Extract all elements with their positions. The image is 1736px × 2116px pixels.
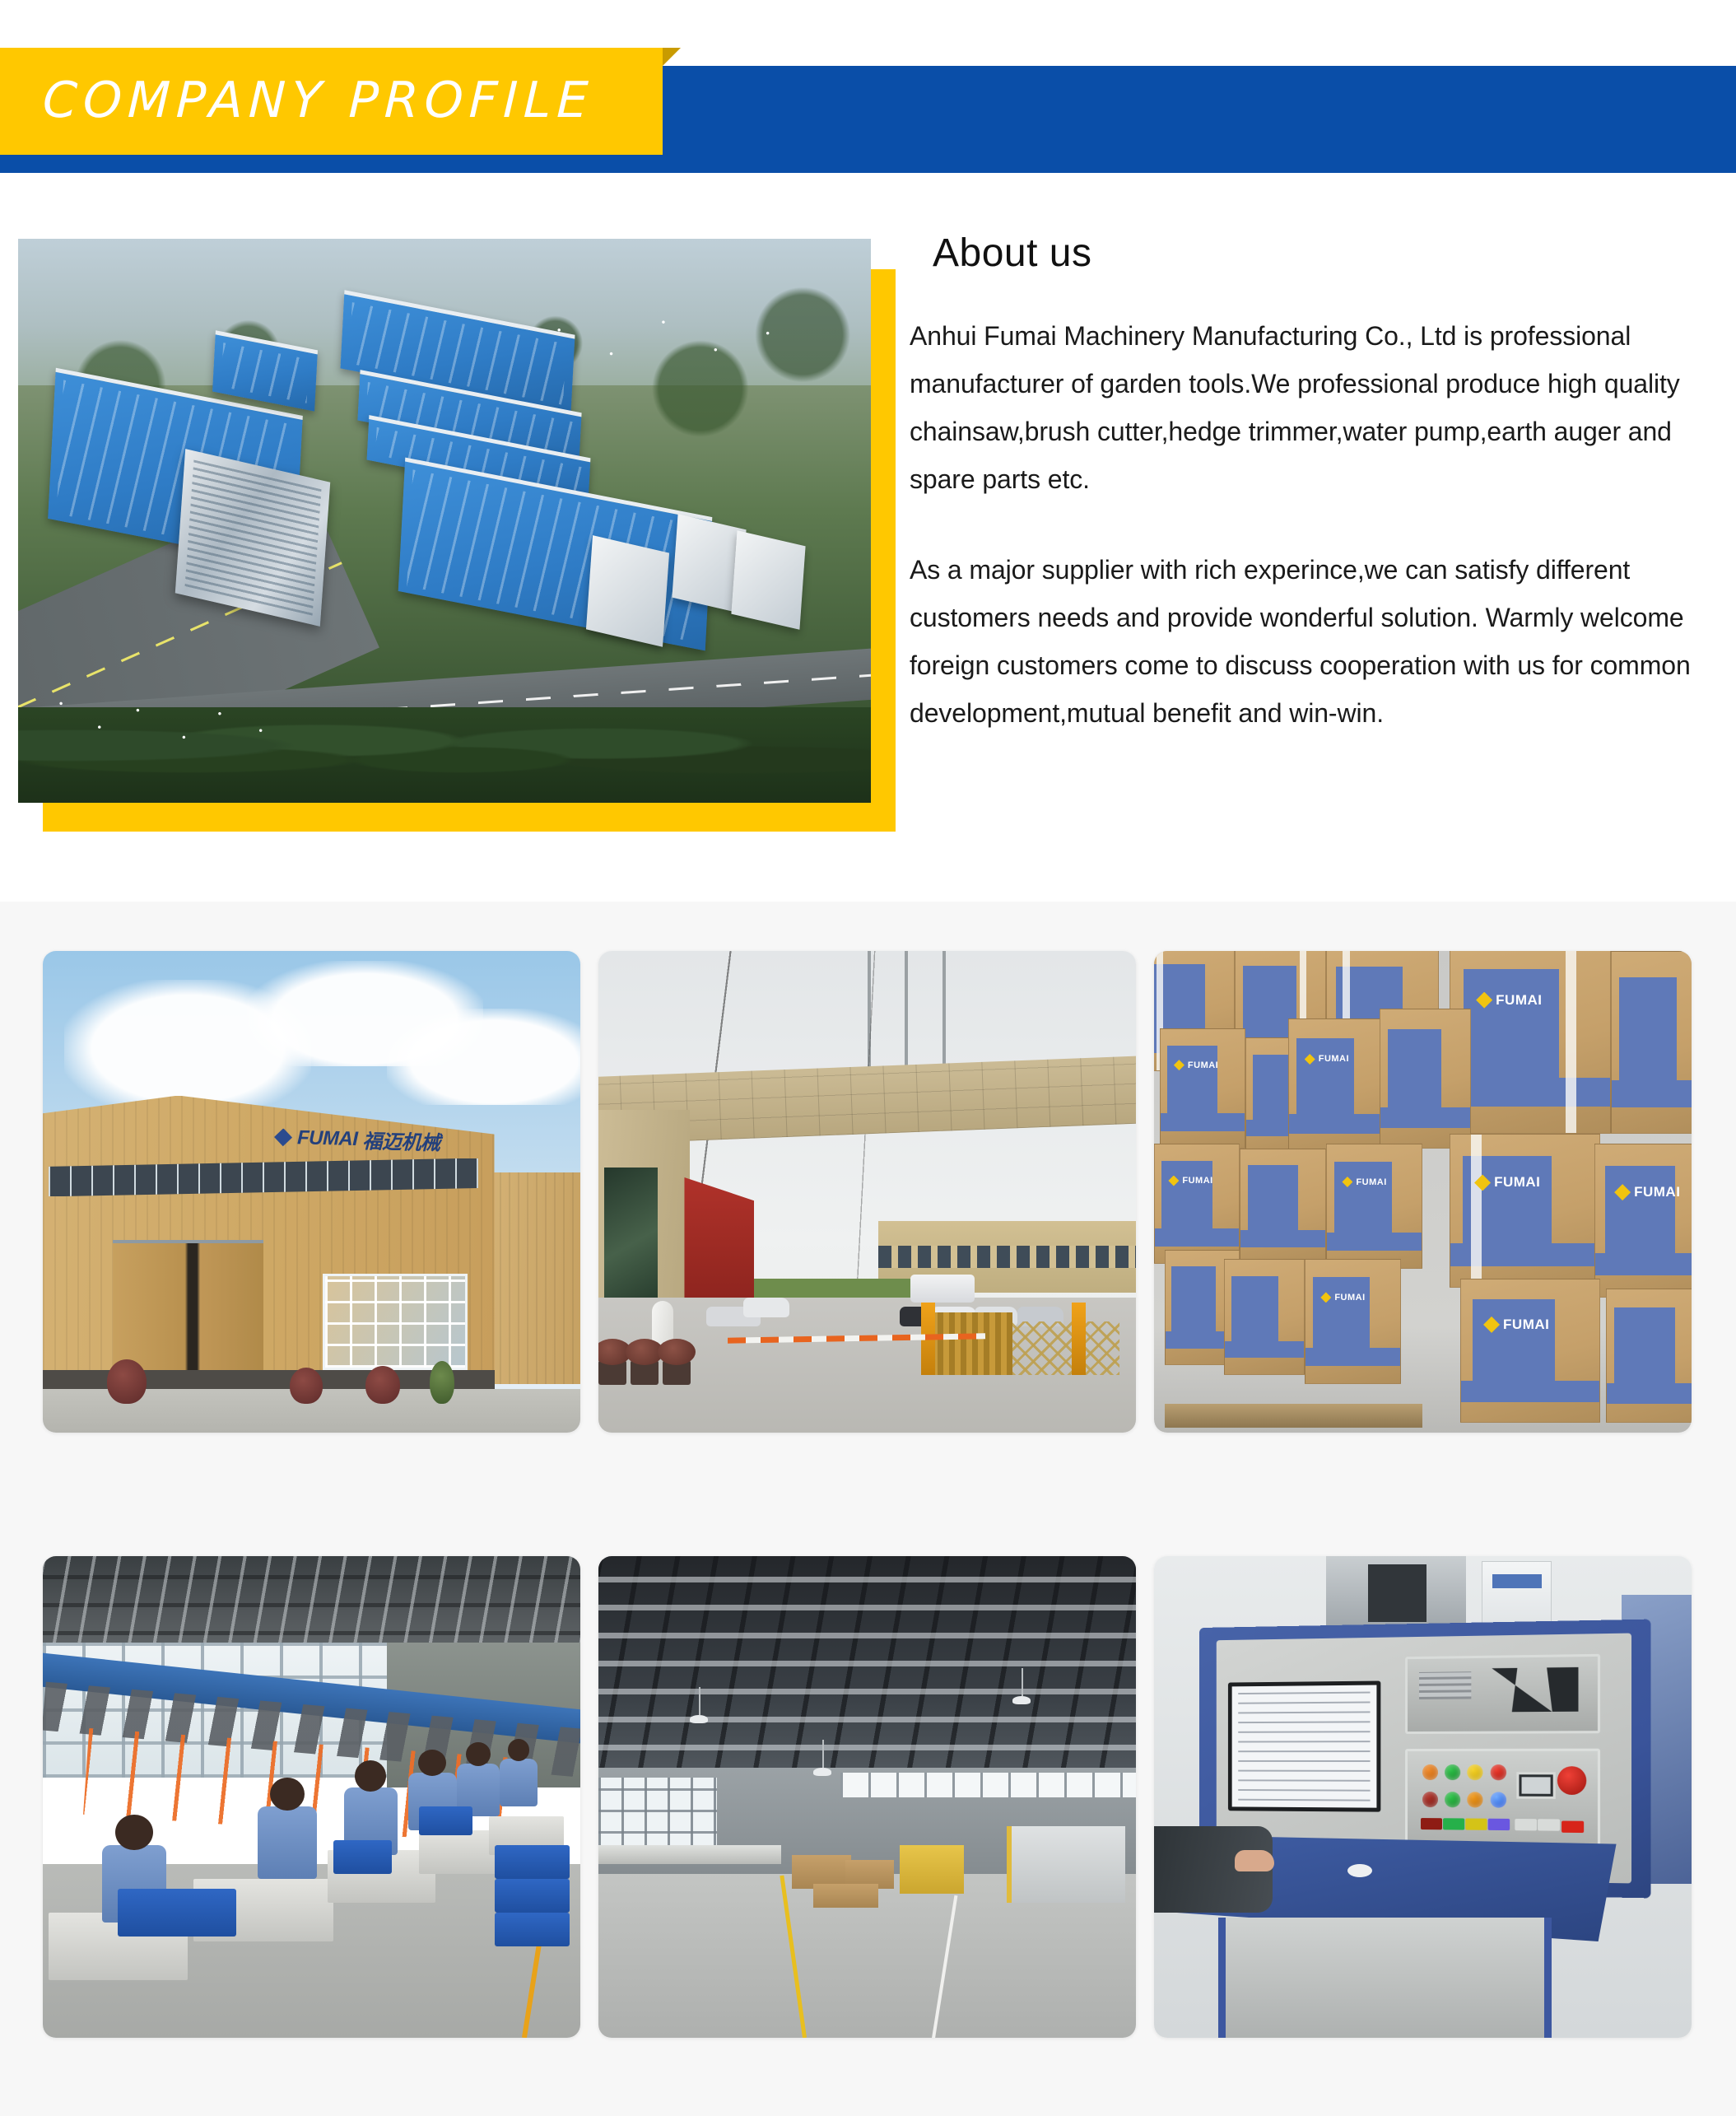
aerial-birds-icon	[35, 690, 291, 757]
assembly-worker	[500, 1759, 538, 1807]
factory-window	[323, 1274, 468, 1370]
vent-grille-icon	[1418, 1671, 1471, 1699]
header-corner-fold-icon	[663, 48, 681, 66]
aerial-birds-icon	[530, 306, 820, 385]
carton-blue-panel	[1231, 1276, 1279, 1342]
about-section: About us Anhui Fumai Machinery Manufactu…	[0, 173, 1736, 897]
factory-aerial-photo	[18, 239, 871, 803]
carton-blue-panel	[1161, 1161, 1212, 1230]
fumai-carton-mark: FUMAI	[1474, 1174, 1540, 1191]
planter-pot	[598, 1360, 626, 1385]
hero-photo-wrapper	[18, 239, 896, 832]
carton-blue-panel	[1388, 1029, 1441, 1109]
carton-brand-text: FUMAI	[1334, 1293, 1365, 1303]
carton-blue-band	[1327, 1233, 1422, 1251]
fumai-logo-icon	[1320, 1292, 1331, 1303]
planter-pot	[631, 1360, 659, 1385]
carton-blue-band	[1380, 1107, 1470, 1128]
carton-blue-band	[1225, 1341, 1304, 1359]
blue-parts-bin	[419, 1806, 472, 1835]
carton-blue-band	[1607, 1383, 1692, 1403]
toggle-switch[interactable]	[1465, 1818, 1487, 1829]
carton-strap	[1566, 951, 1577, 1133]
indicator-light[interactable]	[1490, 1792, 1506, 1808]
button-control-bar	[1405, 1749, 1600, 1848]
indicator-light[interactable]	[1422, 1764, 1438, 1780]
parked-bus	[910, 1275, 975, 1303]
monitor-screen	[1231, 1685, 1376, 1807]
stacked-goods	[813, 1884, 877, 1908]
office-booth	[1007, 1826, 1125, 1904]
carton-blue-panel	[1619, 977, 1676, 1083]
gallery-photo-cnc-control-console[interactable]	[1154, 1556, 1692, 2038]
carton-blue-panel	[1605, 1166, 1675, 1254]
gallery-photo-factory-building-exterior[interactable]: FUMAI 福迈机械	[43, 951, 580, 1433]
about-paragraph-1: Anhui Fumai Machinery Manufacturing Co.,…	[910, 312, 1720, 503]
retractable-gate	[932, 1312, 1012, 1375]
about-heading: About us	[933, 231, 1720, 276]
gallery-row: FUMAI 福迈机械	[43, 951, 1693, 1433]
parked-car	[743, 1298, 789, 1317]
gallery-row	[43, 1556, 1693, 2038]
shipping-carton: FUMAI	[1450, 951, 1611, 1134]
carton-blue-band	[1461, 1381, 1599, 1402]
fumai-logo-icon	[1174, 1060, 1184, 1070]
emergency-stop-button[interactable]	[1557, 1766, 1585, 1795]
shipping-carton: FUMAI	[1160, 1028, 1245, 1149]
toggle-switch[interactable]	[1538, 1819, 1560, 1831]
fumai-carton-mark: FUMAI	[1174, 1060, 1218, 1070]
page-title: COMPANY PROFILE	[41, 59, 653, 142]
gallery-photo-workshop-interior[interactable]	[598, 1556, 1136, 2038]
indicator-light[interactable]	[1467, 1764, 1482, 1780]
carton-blue-band	[1305, 1348, 1401, 1367]
fumai-carton-mark: FUMAI	[1483, 1317, 1549, 1333]
shipping-carton	[1606, 1289, 1692, 1424]
barrier-post	[1072, 1303, 1086, 1375]
shipping-carton: FUMAI	[1450, 1134, 1600, 1288]
fumai-logo-icon	[1614, 1184, 1631, 1200]
carton-blue-panel	[1334, 1162, 1391, 1233]
planter-pot	[663, 1360, 691, 1385]
fumai-sign-brand: FUMAI	[296, 1126, 357, 1150]
carton-blue-panel	[1313, 1277, 1370, 1349]
indicator-light[interactable]	[1490, 1764, 1506, 1780]
ornamental-tree	[430, 1361, 454, 1404]
toggle-switch[interactable]	[1488, 1818, 1510, 1829]
indicator-light[interactable]	[1445, 1764, 1460, 1780]
pendant-lamp-icon	[690, 1715, 708, 1723]
shipping-carton: FUMAI	[1305, 1259, 1402, 1384]
indicator-light[interactable]	[1445, 1792, 1460, 1807]
blue-parts-bin	[333, 1840, 393, 1874]
pendant-lamp-icon	[1012, 1696, 1031, 1704]
about-text-block: About us Anhui Fumai Machinery Manufactu…	[910, 231, 1720, 737]
carton-blue-panel	[1171, 1266, 1216, 1332]
indicator-light[interactable]	[1467, 1792, 1482, 1807]
blue-parts-bin	[495, 1845, 570, 1879]
gallery-photo-factory-entrance-gate[interactable]	[598, 951, 1136, 1433]
aerial-illustration	[18, 239, 871, 803]
shipping-carton	[1611, 951, 1692, 1134]
carton-blue-band	[1240, 1230, 1324, 1247]
carton-strap	[1471, 1135, 1482, 1287]
carton-brand-text: FUMAI	[1188, 1060, 1218, 1070]
carton-blue-band	[1161, 1113, 1245, 1131]
fumai-carton-mark: FUMAI	[1320, 1292, 1365, 1303]
fumai-wall-sign: FUMAI 福迈机械	[273, 1122, 440, 1155]
indicator-light[interactable]	[1422, 1792, 1438, 1807]
carton-blue-band	[1155, 1228, 1239, 1247]
ornamental-tree	[365, 1366, 400, 1404]
carton-blue-band	[1289, 1114, 1385, 1134]
about-paragraph-2: As a major supplier with rich experince,…	[910, 546, 1720, 737]
carton-blue-panel	[1296, 1038, 1353, 1116]
aerial-dormitory-block	[586, 535, 669, 647]
toggle-switch[interactable]	[1421, 1817, 1442, 1829]
shipping-carton	[1240, 1149, 1325, 1264]
shipping-carton: FUMAI	[1594, 1144, 1692, 1298]
photo-gallery-section: FUMAI 福迈机械	[0, 902, 1736, 2116]
analog-meter	[1516, 1772, 1555, 1799]
side-windows	[598, 1778, 717, 1855]
company-profile-page: COMPANY PROFILE	[0, 0, 1736, 2116]
blue-parts-bin	[495, 1913, 570, 1946]
fumai-logo-icon	[1476, 992, 1492, 1009]
carton-blue-band	[1450, 1078, 1610, 1107]
shipping-carton	[1380, 1009, 1471, 1149]
fumai-logo-icon	[1342, 1177, 1352, 1187]
wooden-pallet	[1165, 1404, 1422, 1428]
clerestory-windows	[840, 1773, 1136, 1797]
ornamental-tree	[107, 1359, 147, 1404]
toggle-switch[interactable]	[1515, 1818, 1537, 1829]
carton-blue-band	[1612, 1080, 1692, 1107]
aerial-dormitory-block	[732, 530, 806, 629]
pendant-lamp-icon	[813, 1768, 831, 1776]
fumai-carton-mark: FUMAI	[1476, 992, 1542, 1009]
carton-blue-panel	[1167, 1046, 1217, 1115]
fumai-logo-icon	[1483, 1317, 1500, 1333]
ornamental-tree	[290, 1368, 323, 1404]
blue-parts-bin	[495, 1879, 570, 1913]
yellow-partition	[900, 1845, 964, 1894]
fumai-logo-icon	[1305, 1054, 1315, 1065]
blue-parts-bin	[118, 1889, 236, 1937]
assembly-worker	[258, 1806, 317, 1879]
fumai-logo-icon	[1168, 1176, 1179, 1186]
carton-brand-text: FUMAI	[1356, 1177, 1386, 1187]
shipping-carton: FUMAI	[1288, 1018, 1385, 1154]
operator-hand	[1235, 1850, 1274, 1871]
carton-brand-text: FUMAI	[1494, 1174, 1540, 1191]
cloud	[387, 1009, 580, 1105]
carton-blue-panel	[1248, 1165, 1298, 1231]
fumai-carton-mark: FUMAI	[1614, 1184, 1680, 1200]
carton-brand-text: FUMAI	[1503, 1317, 1549, 1333]
shipping-carton: FUMAI	[1154, 1144, 1240, 1264]
carton-blue-panel	[1473, 1299, 1556, 1382]
gallery-photo-packed-cartons-warehouse[interactable]: FUMAI FUMAI	[1154, 951, 1692, 1433]
assembly-bench-row	[598, 1845, 781, 1864]
carton-blue-panel	[1614, 1307, 1674, 1385]
fumai-logo-icon	[274, 1128, 293, 1147]
carton-brand-text: FUMAI	[1634, 1184, 1680, 1200]
carton-brand-text: FUMAI	[1496, 992, 1542, 1009]
console-cabinet	[1218, 1918, 1552, 2038]
instrument-module	[1405, 1654, 1600, 1735]
shipping-carton: FUMAI	[1460, 1279, 1600, 1424]
fumai-sign-chinese: 福迈机械	[362, 1125, 440, 1155]
gallery-photo-assembly-line-workers[interactable]	[43, 1556, 580, 2038]
retractable-gate	[1012, 1321, 1120, 1374]
carton-brand-text: FUMAI	[1182, 1176, 1212, 1186]
carton-brand-text: FUMAI	[1319, 1054, 1349, 1064]
shipping-carton: FUMAI	[1326, 1144, 1423, 1269]
carton-blue-panel	[1464, 969, 1559, 1080]
fumai-carton-mark: FUMAI	[1305, 1054, 1349, 1065]
console-monitor	[1228, 1681, 1380, 1811]
fumai-carton-mark: FUMAI	[1168, 1176, 1212, 1186]
fumai-logo-icon	[1474, 1174, 1491, 1191]
lawn	[749, 1279, 910, 1298]
carton-blue-band	[1595, 1253, 1692, 1276]
fumai-carton-mark: FUMAI	[1342, 1177, 1386, 1187]
shipping-carton	[1224, 1259, 1305, 1374]
power-switch[interactable]	[1561, 1820, 1584, 1833]
toggle-switch[interactable]	[1443, 1818, 1464, 1829]
